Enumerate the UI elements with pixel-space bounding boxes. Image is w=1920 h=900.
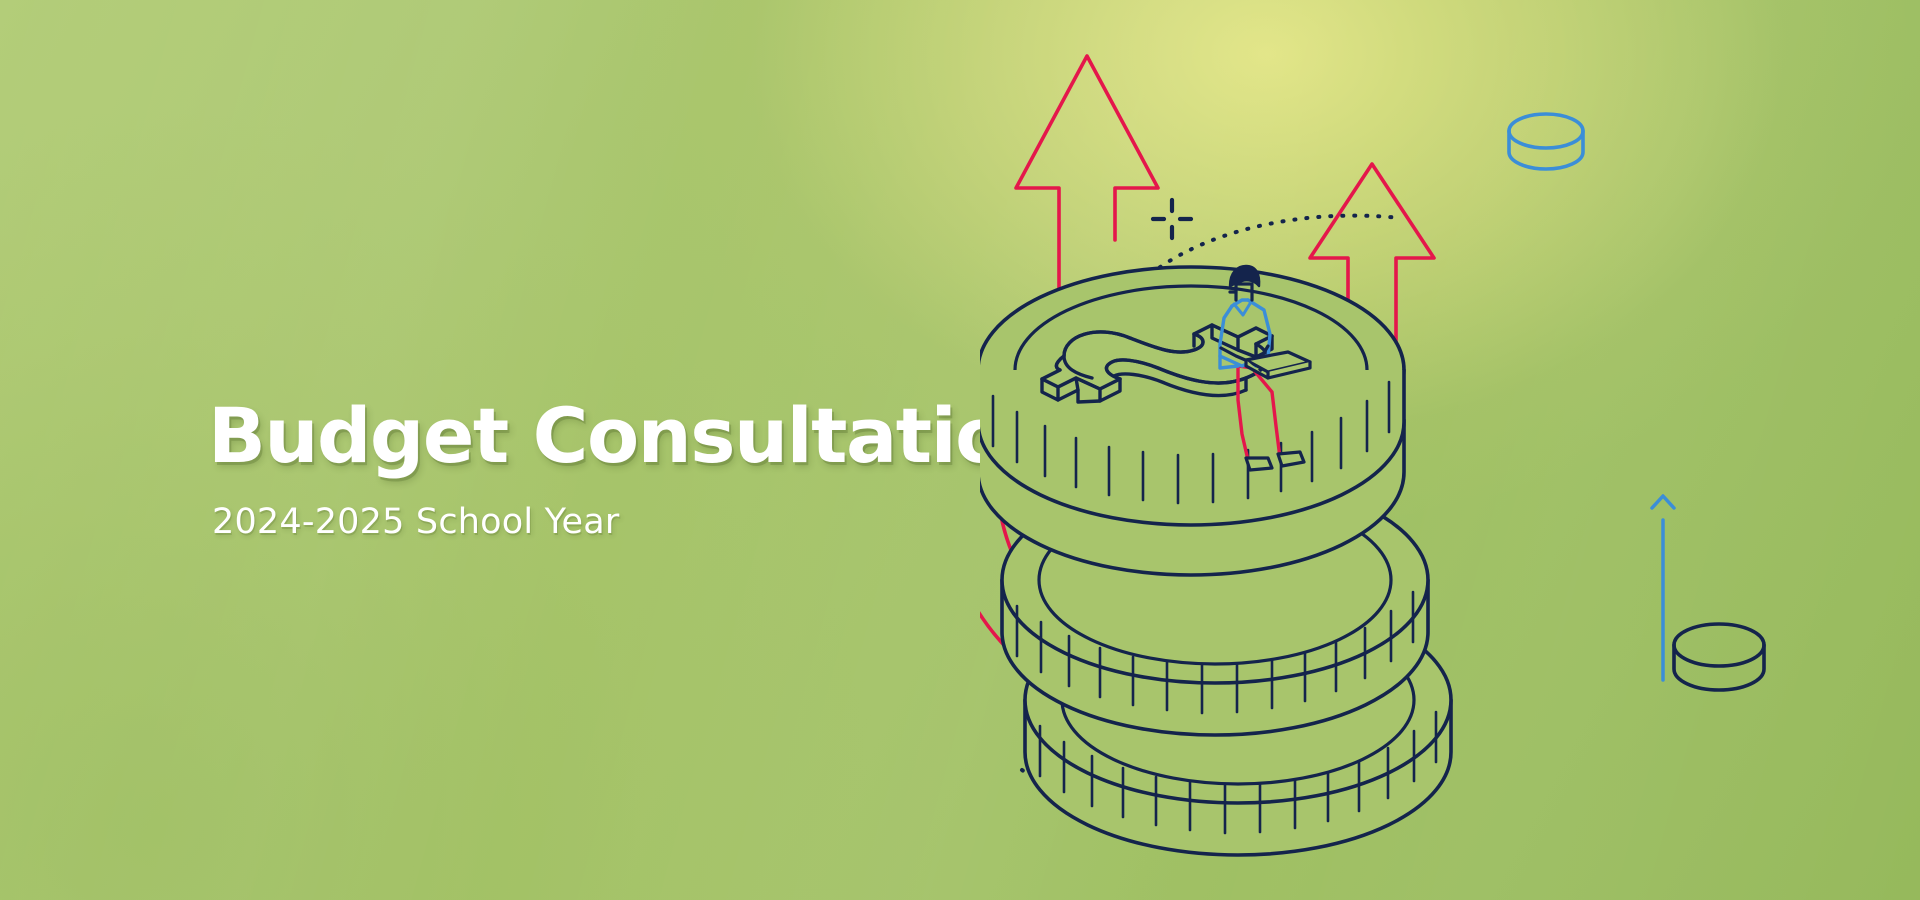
crosshair-marker-upper: [1153, 200, 1191, 238]
mini-coin-blue-top: [1509, 114, 1583, 169]
banner-text-block: Budget Consultation 2024-2025 School Yea…: [208, 398, 1108, 542]
budget-consultation-banner: Budget Consultation 2024-2025 School Yea…: [0, 0, 1920, 900]
coin-stack-illustration: [980, 0, 1920, 900]
page-subtitle: 2024-2025 School Year: [212, 502, 1108, 542]
illustration-svg: [980, 0, 1920, 900]
mini-coin-navy-right: [1674, 624, 1764, 690]
page-title: Budget Consultation: [208, 398, 1108, 474]
blue-arrow-head-right: [1652, 496, 1674, 508]
coin-top: [980, 267, 1404, 575]
